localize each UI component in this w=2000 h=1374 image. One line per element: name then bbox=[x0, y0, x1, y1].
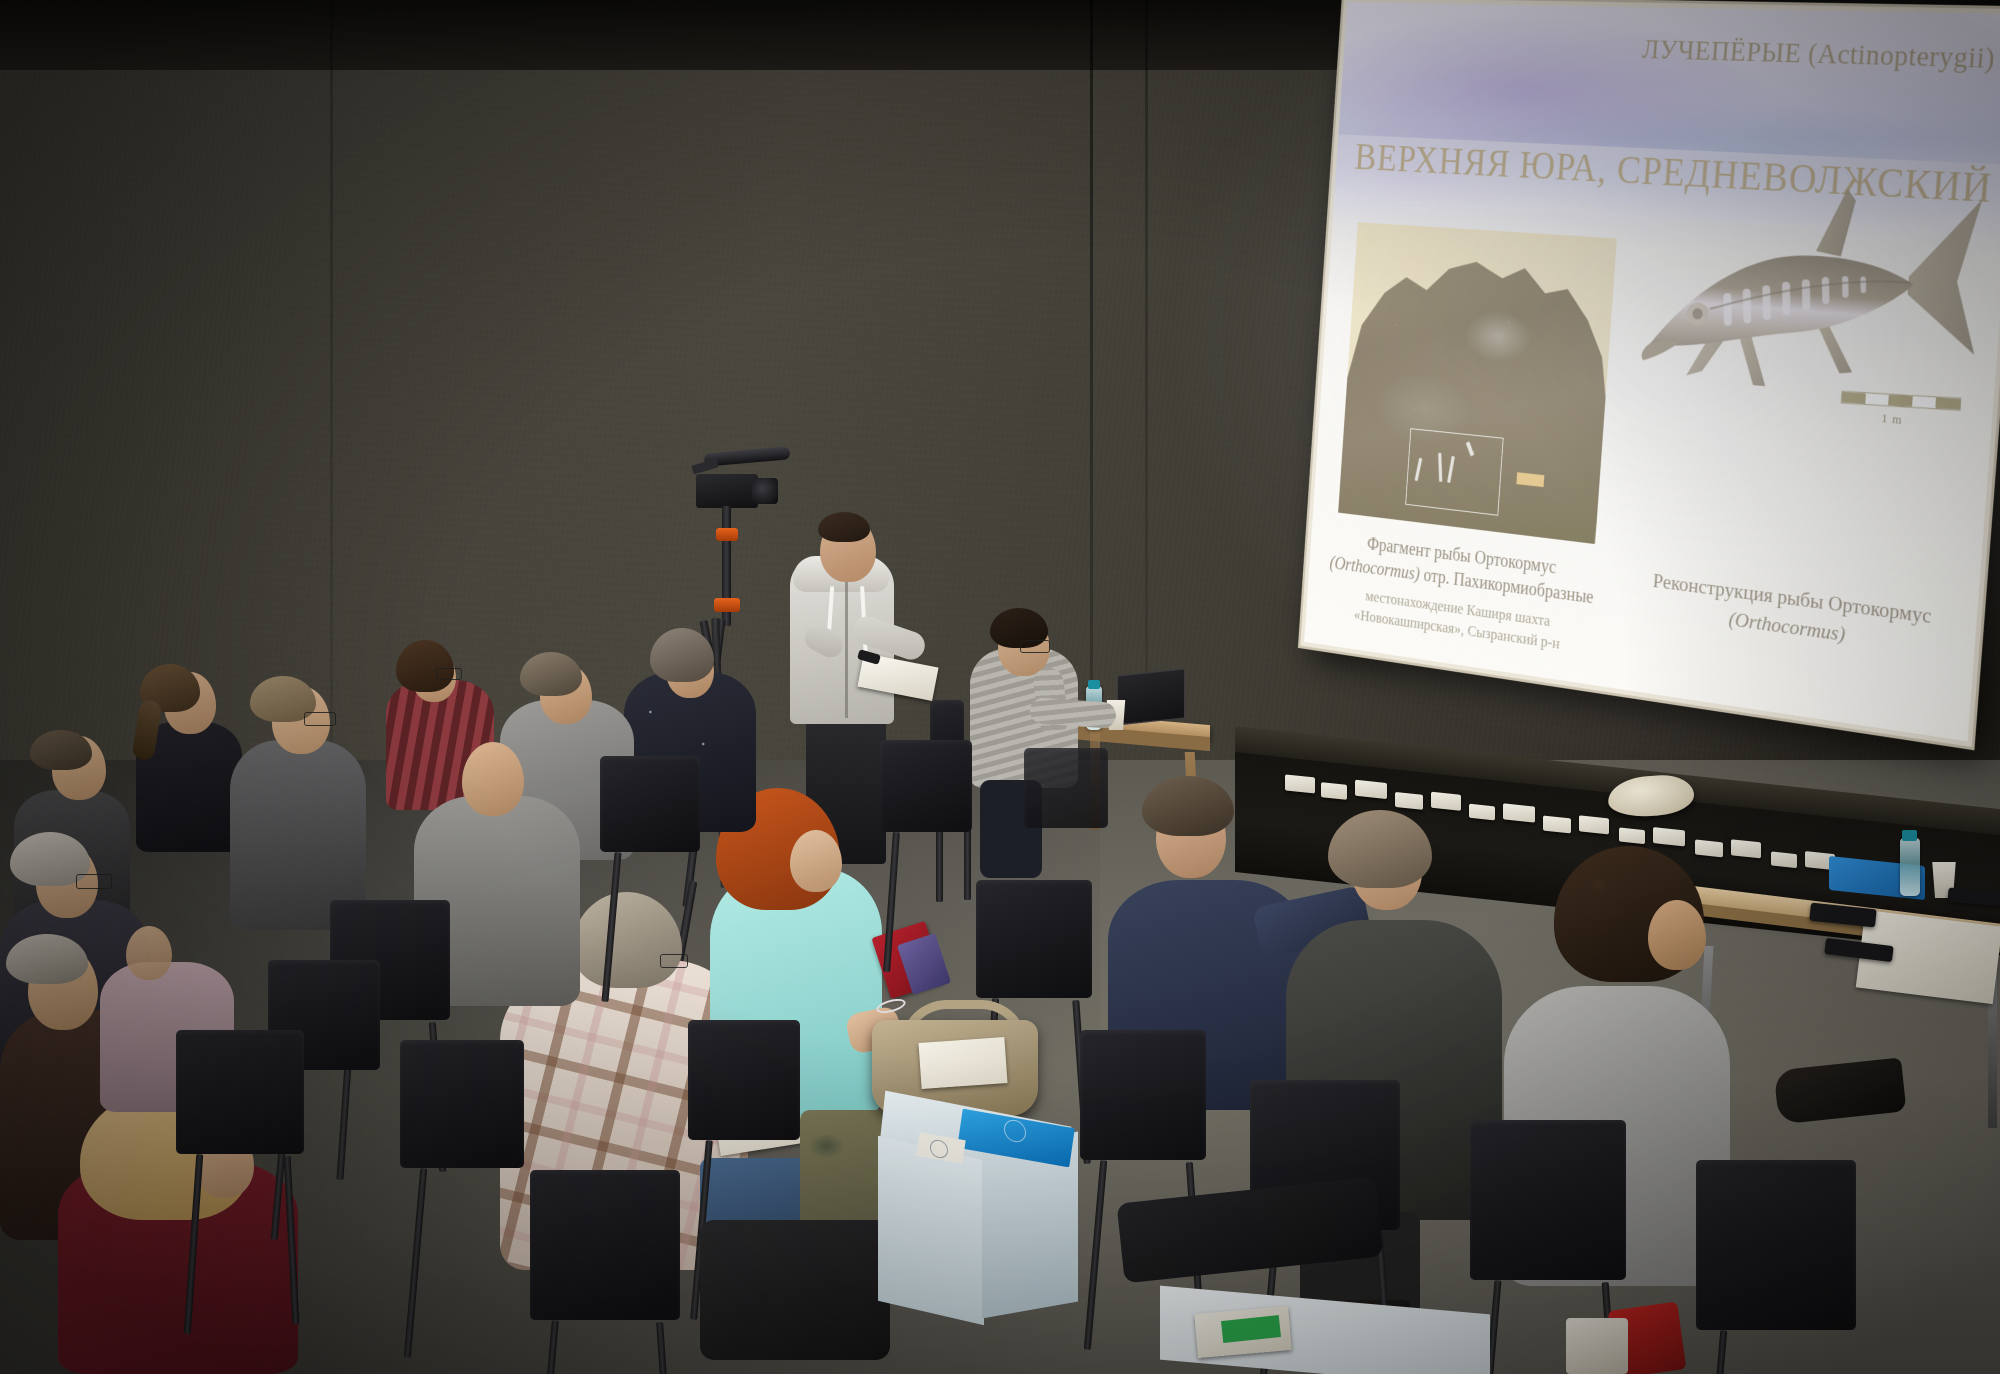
scale-bar-label: 1 m bbox=[1881, 410, 1903, 428]
presenter-hair bbox=[818, 512, 870, 542]
black-bag[interactable] bbox=[700, 1220, 890, 1360]
tripod-lock-ring bbox=[714, 598, 740, 612]
video-camera[interactable] bbox=[696, 474, 758, 508]
specimen-label bbox=[1771, 851, 1797, 868]
presenter-zipper bbox=[845, 582, 848, 718]
audience-head bbox=[1648, 900, 1706, 970]
wall-seam bbox=[1145, 0, 1148, 700]
audience-head bbox=[126, 926, 172, 980]
laptop[interactable] bbox=[1117, 668, 1185, 725]
audience-hair bbox=[30, 730, 92, 770]
eyeglasses bbox=[304, 712, 336, 726]
specimen-label bbox=[1695, 839, 1723, 857]
papers-in-bag bbox=[919, 1037, 1008, 1089]
camera-lens-icon bbox=[752, 478, 778, 504]
audience-head bbox=[790, 830, 842, 892]
projection-screen: ЛУЧЕПЁРЫЕ (Actinopterygii) ВЕРХНЯЯ ЮРА, … bbox=[1300, 0, 2000, 747]
audience-hair bbox=[520, 652, 582, 696]
specimen-label bbox=[1395, 792, 1423, 810]
specimen-label bbox=[1431, 792, 1461, 811]
specimen-label bbox=[1653, 827, 1685, 846]
specimen-label bbox=[1285, 774, 1315, 793]
specimen-label bbox=[1469, 804, 1495, 821]
specimen-label bbox=[1321, 782, 1347, 800]
eyeglasses bbox=[436, 668, 462, 680]
specimen-label bbox=[1619, 827, 1645, 844]
fish-reconstruction-figure: 1 m bbox=[1633, 120, 2000, 473]
audience-head-bald bbox=[462, 742, 524, 816]
tripod-lock-ring bbox=[716, 528, 738, 541]
fossil-detail-box bbox=[1405, 428, 1503, 516]
pedestal-front-face bbox=[878, 1136, 984, 1325]
bottle-cap bbox=[1088, 680, 1100, 689]
water-bottle[interactable] bbox=[1900, 838, 1920, 896]
fossil-photograph bbox=[1338, 222, 1617, 544]
specimen-label bbox=[1543, 815, 1571, 833]
lecture-hall-photo: ЛУЧЕПЁРЫЕ (Actinopterygii) ВЕРХНЯЯ ЮРА, … bbox=[0, 0, 2000, 1374]
eyeglasses bbox=[660, 954, 688, 968]
specimen-label bbox=[1579, 815, 1609, 834]
wall-seam bbox=[330, 0, 333, 820]
specimen-label bbox=[1731, 839, 1761, 858]
bottle-cap bbox=[1902, 830, 1917, 841]
presentation-slide: ЛУЧЕПЁРЫЕ (Actinopterygii) ВЕРХНЯЯ ЮРА, … bbox=[1304, 2, 2000, 741]
wall-seam bbox=[1090, 0, 1093, 760]
eyeglasses bbox=[76, 874, 112, 889]
specimen-label bbox=[1355, 780, 1387, 799]
white-box bbox=[1566, 1318, 1628, 1374]
specimen-label bbox=[1503, 803, 1535, 822]
reconstruction-caption: Реконструкция рыбы Ортокормус (Orthocorm… bbox=[1616, 562, 1970, 665]
moderator-glasses bbox=[1020, 640, 1050, 653]
fossil-caption: Фрагмент рыбы Ортокормус (Orthocormus) о… bbox=[1315, 526, 1609, 661]
orthocormus-fish-icon bbox=[1635, 120, 2000, 433]
